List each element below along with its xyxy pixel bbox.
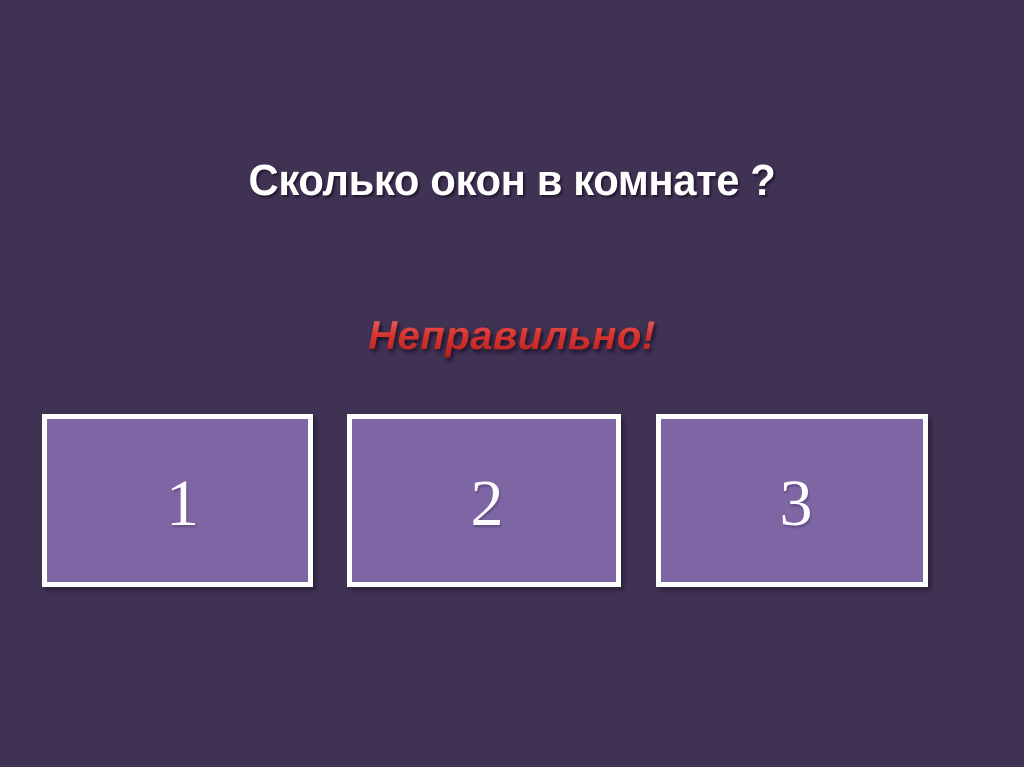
quiz-slide: Сколько окон в комнате ? Неправильно! 1 … bbox=[0, 0, 1024, 767]
answer-options-row: 1 2 3 bbox=[0, 0, 1024, 767]
answer-option-2[interactable]: 2 bbox=[347, 414, 621, 587]
answer-option-3-label: 3 bbox=[661, 471, 923, 537]
answer-option-3[interactable]: 3 bbox=[656, 414, 928, 587]
answer-option-1-label: 1 bbox=[47, 471, 308, 537]
answer-option-2-label: 2 bbox=[352, 471, 616, 537]
answer-option-1[interactable]: 1 bbox=[42, 414, 313, 587]
